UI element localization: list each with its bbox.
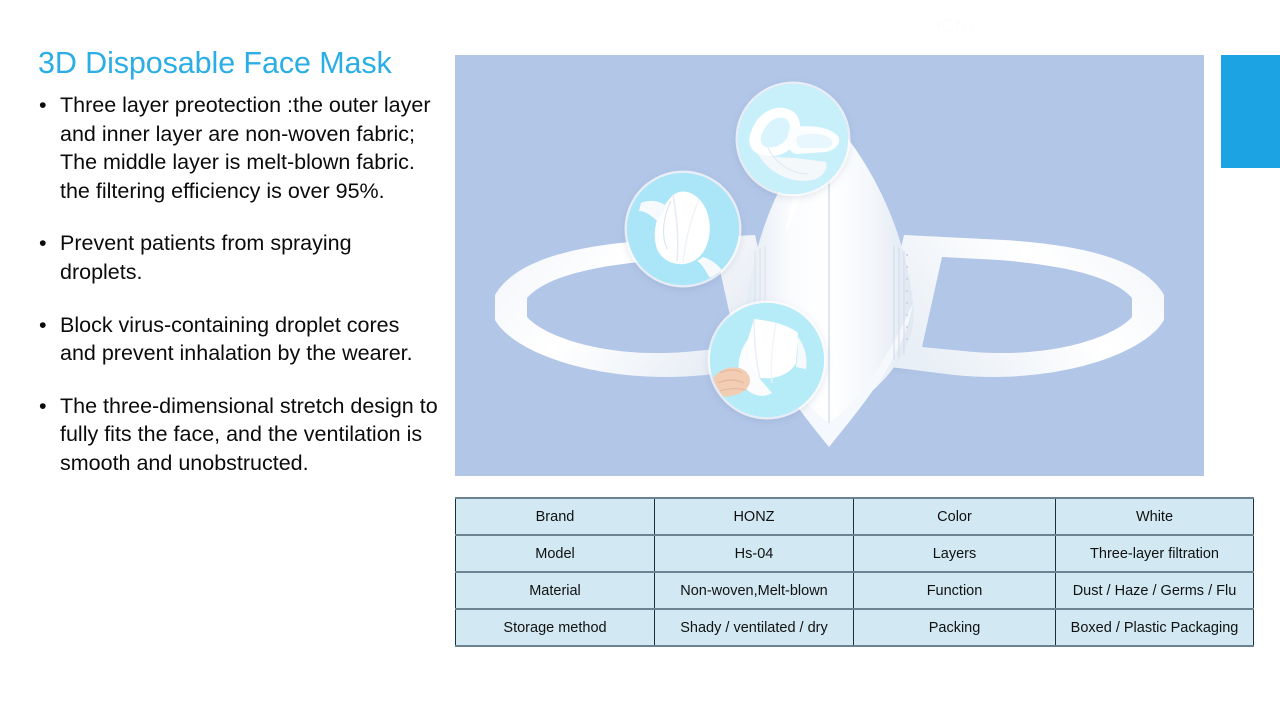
bullet-marker-icon: • <box>39 91 47 120</box>
mask-in-hand-detail-icon <box>710 303 824 417</box>
product-photo <box>455 55 1204 476</box>
list-item: • Prevent patients from spraying droplet… <box>30 229 440 286</box>
spec-value: Boxed / Plastic Packaging <box>1056 609 1254 646</box>
spec-value: Hs-04 <box>655 535 854 572</box>
table-row: Brand HONZ Color White <box>456 498 1254 535</box>
mask-folded-detail-inset <box>627 173 739 285</box>
mask-earloop-detail-icon <box>738 84 848 194</box>
table-row: Storage method Shady / ventilated / dry … <box>456 609 1254 646</box>
slide-canvas: 3D Disposable Face Mask • Three layer pr… <box>0 0 1280 720</box>
specification-table: Brand HONZ Color White Model Hs-04 Layer… <box>455 497 1254 647</box>
spec-value: Non-woven,Melt-blown <box>655 572 854 609</box>
spec-label: Packing <box>854 609 1056 646</box>
spec-value: White <box>1056 498 1254 535</box>
spec-value: Shady / ventilated / dry <box>655 609 854 646</box>
list-item: • Block virus-containing droplet cores a… <box>30 311 440 368</box>
list-item: • The three-dimensional stretch design t… <box>30 392 440 478</box>
bullet-marker-icon: • <box>39 229 47 258</box>
bullet-text: Prevent patients from spraying droplets. <box>60 229 440 286</box>
spec-value: Three-layer filtration <box>1056 535 1254 572</box>
table-row: Material Non-woven,Melt-blown Function D… <box>456 572 1254 609</box>
bullet-text: The three-dimensional stretch design to … <box>60 392 440 478</box>
spec-label: Storage method <box>456 609 655 646</box>
bullet-marker-icon: • <box>39 392 47 421</box>
mask-in-hand-detail-inset <box>710 303 824 417</box>
spec-label: Layers <box>854 535 1056 572</box>
content-column: 3D Disposable Face Mask • Three layer pr… <box>30 46 440 478</box>
watermark-text: HONZ <box>928 16 980 36</box>
table-row: Model Hs-04 Layers Three-layer filtratio… <box>456 535 1254 572</box>
spec-label: Brand <box>456 498 655 535</box>
spec-label: Model <box>456 535 655 572</box>
spec-label: Function <box>854 572 1056 609</box>
spec-label: Material <box>456 572 655 609</box>
spec-value: HONZ <box>655 498 854 535</box>
bullet-text: Block virus-containing droplet cores and… <box>60 311 440 368</box>
mask-folded-detail-icon <box>627 173 739 285</box>
list-item: • Three layer preotection :the outer lay… <box>30 91 440 205</box>
bullet-text: Three layer preotection :the outer layer… <box>60 91 440 205</box>
accent-rectangle <box>1221 55 1280 168</box>
page-title: 3D Disposable Face Mask <box>38 46 440 81</box>
bullet-marker-icon: • <box>39 311 47 340</box>
feature-bullet-list: • Three layer preotection :the outer lay… <box>30 91 440 478</box>
mask-earloop-detail-inset <box>738 84 848 194</box>
spec-label: Color <box>854 498 1056 535</box>
spec-value: Dust / Haze / Germs / Flu <box>1056 572 1254 609</box>
